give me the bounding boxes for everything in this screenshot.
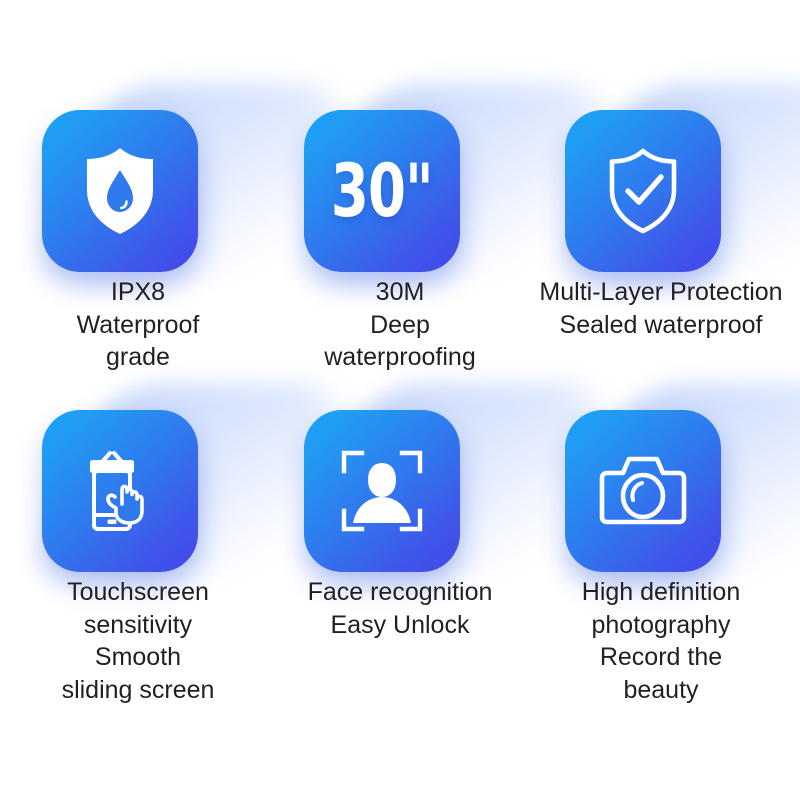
camera-icon [597,451,689,531]
feature-label: Face recognition Easy Unlock [267,576,533,641]
tile-wrapper: 30" [267,96,533,266]
feature-label: IPX8 Waterproof grade [5,276,271,374]
feature-tile[interactable] [42,410,198,572]
feature-tile[interactable]: 30" [304,110,460,272]
feature-grid: IPX8 Waterproof grade 30" 30M Deep water… [0,0,800,800]
face-recognition-icon [338,447,426,535]
tile-wrapper [528,396,794,566]
feature-tile[interactable] [42,110,198,272]
feature-card-ipx8-waterproof[interactable]: IPX8 Waterproof grade [5,96,271,374]
feature-tile[interactable] [565,410,721,572]
feature-card-30m-deep-waterproofing[interactable]: 30" 30M Deep waterproofing [267,96,533,374]
feature-label: High definition photography Record the b… [525,576,797,706]
feature-tile[interactable] [304,410,460,572]
feature-label: Touchscreen sensitivity Smooth sliding s… [5,576,271,706]
depth-30-inch-text-icon: 30" [331,154,433,227]
feature-label: 30M Deep waterproofing [267,276,533,374]
tile-wrapper [528,96,794,266]
tile-wrapper [267,396,533,566]
tile-wrapper [5,96,271,266]
feature-tile[interactable] [565,110,721,272]
shield-check-icon [604,146,682,236]
feature-label: Multi-Layer Protection Sealed waterproof [525,276,797,341]
feature-card-multi-layer-protection[interactable]: Multi-Layer Protection Sealed waterproof [528,96,794,341]
feature-card-hd-photography[interactable]: High definition photography Record the b… [528,396,794,706]
feature-card-touchscreen-sensitivity[interactable]: Touchscreen sensitivity Smooth sliding s… [5,396,271,706]
phone-touch-gesture-icon [78,445,162,537]
shield-waterdrop-icon [81,146,159,236]
tile-wrapper [5,396,271,566]
feature-card-face-recognition[interactable]: Face recognition Easy Unlock [267,396,533,641]
